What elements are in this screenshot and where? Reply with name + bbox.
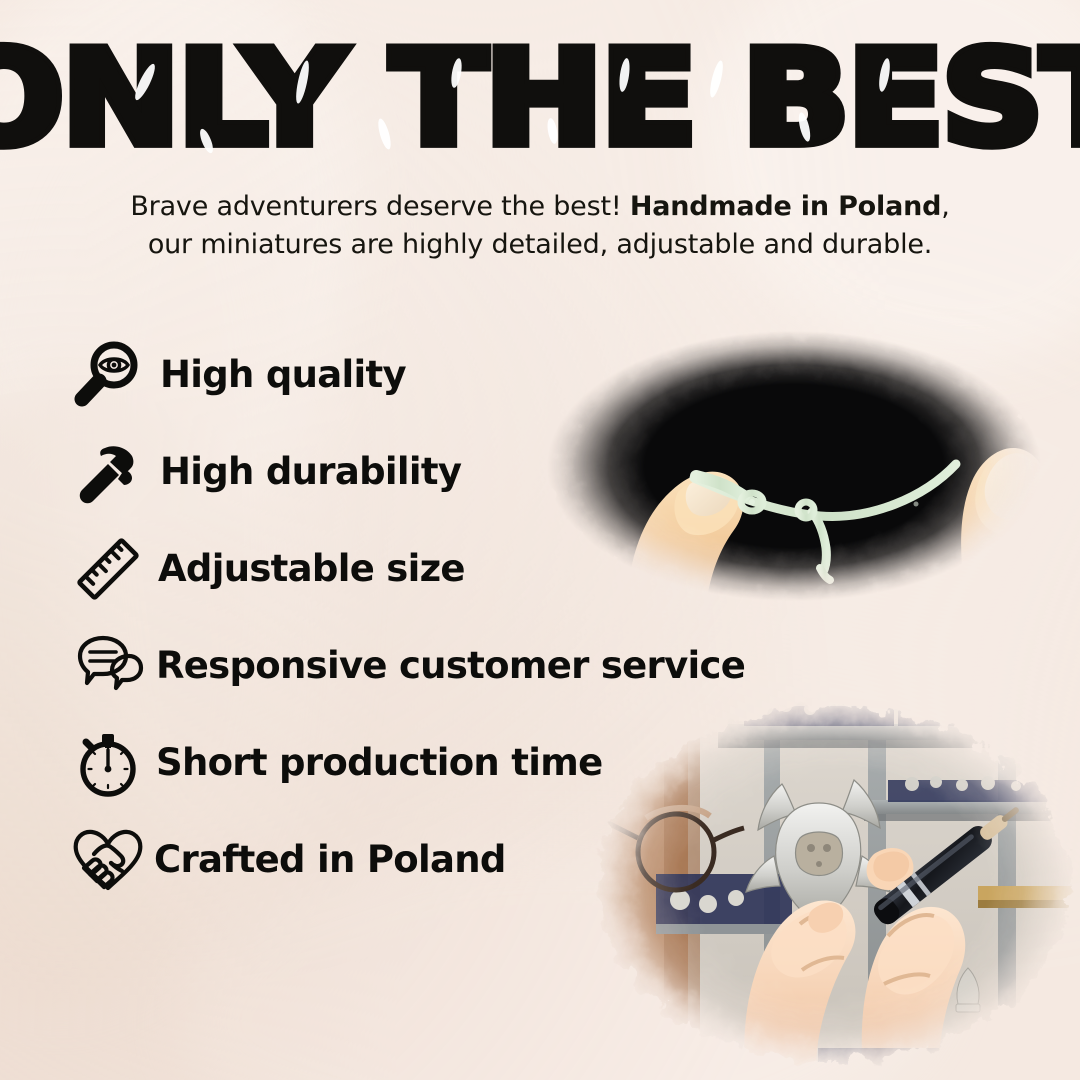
page-title: ONLY THE BEST <box>0 34 1080 164</box>
subtitle-line-2: our miniatures are highly detailed, adju… <box>148 229 932 260</box>
speech-bubbles-icon <box>62 620 154 712</box>
feature-label: Adjustable size <box>154 547 465 590</box>
feature-label: High durability <box>154 450 461 493</box>
feature-item-high-durability: High durability <box>62 423 782 520</box>
feature-item-crafted-in-poland: Crafted in Poland <box>62 811 782 908</box>
stopwatch-icon <box>62 717 154 809</box>
heart-handshake-icon <box>62 814 154 906</box>
feature-item-high-quality: High quality <box>62 326 782 423</box>
subtitle-emphasis: Handmade in Poland <box>630 191 941 222</box>
feature-item-production-time: Short production time <box>62 714 782 811</box>
feature-label: Responsive customer service <box>154 644 745 687</box>
infographic-canvas: ONLY THE BEST Brave adventurers deserve … <box>0 0 1080 1080</box>
subtitle-line-1: Brave adventurers deserve the best! Hand… <box>130 191 949 222</box>
ruler-icon <box>62 523 154 615</box>
headline-container: ONLY THE BEST <box>0 34 1080 158</box>
feature-list: High quality High durability <box>62 326 782 908</box>
feature-label: High quality <box>154 353 406 396</box>
feature-item-customer-service: Responsive customer service <box>62 617 782 714</box>
subtitle-text: Brave adventurers deserve the best! <box>130 191 630 222</box>
subtitle-text: , <box>941 191 949 222</box>
feature-item-adjustable-size: Adjustable size <box>62 520 782 617</box>
hammer-icon <box>62 428 154 520</box>
feature-label: Crafted in Poland <box>154 838 506 881</box>
magnifier-eye-icon <box>62 329 154 421</box>
feature-label: Short production time <box>154 741 602 784</box>
subtitle: Brave adventurers deserve the best! Hand… <box>0 188 1080 264</box>
